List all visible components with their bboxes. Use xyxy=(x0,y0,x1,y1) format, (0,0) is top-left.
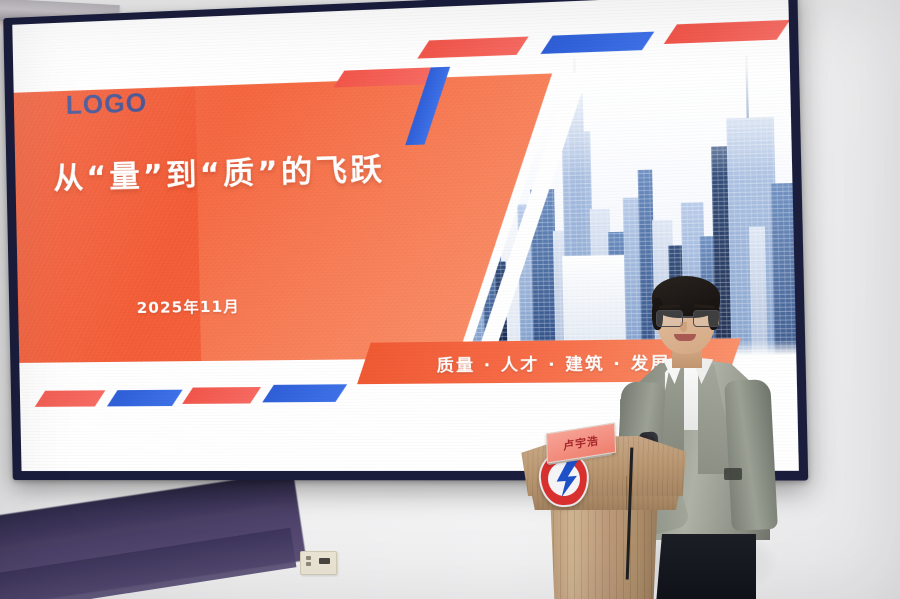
slide-stripe-bottom-blue-1 xyxy=(107,390,183,407)
slide-orange-panel-left xyxy=(12,86,201,363)
slide-logo-text: LOGO xyxy=(66,87,148,121)
microphone-cable xyxy=(626,448,660,581)
photo-scene: 质量 · 人才 · 建筑 · 发展 LOGO 从“量”到“质”的飞跃 2025年… xyxy=(0,0,900,599)
eyeglass-lens-right xyxy=(693,310,720,327)
slide-stripe-bottom-blue-2 xyxy=(262,384,347,402)
eyeglasses-icon xyxy=(656,310,718,325)
eyeglass-bridge xyxy=(681,316,693,318)
nose xyxy=(680,322,687,332)
podium-seam xyxy=(626,476,627,510)
wooden-podium: 卢宇浩 xyxy=(508,424,698,599)
outlet-port-icon xyxy=(306,562,311,566)
slide-stripe-bottom-red-2 xyxy=(182,387,261,404)
speaker-name-text: 卢宇浩 xyxy=(563,432,599,454)
jacket-sleeve-right xyxy=(724,379,778,531)
slide-stripe-bottom-red-1 xyxy=(35,390,106,407)
outlet-socket-icon xyxy=(319,558,330,564)
slide-date-text: 2025年11月 xyxy=(136,295,240,318)
outlet-port-icon xyxy=(306,556,311,560)
mouth xyxy=(674,334,696,341)
jacket-patch xyxy=(724,468,742,480)
network-outlet-plate[interactable] xyxy=(300,551,337,575)
eyeglass-lens-left xyxy=(656,310,683,327)
slide-title-text: 从“量”到“质”的飞跃 xyxy=(53,144,386,198)
